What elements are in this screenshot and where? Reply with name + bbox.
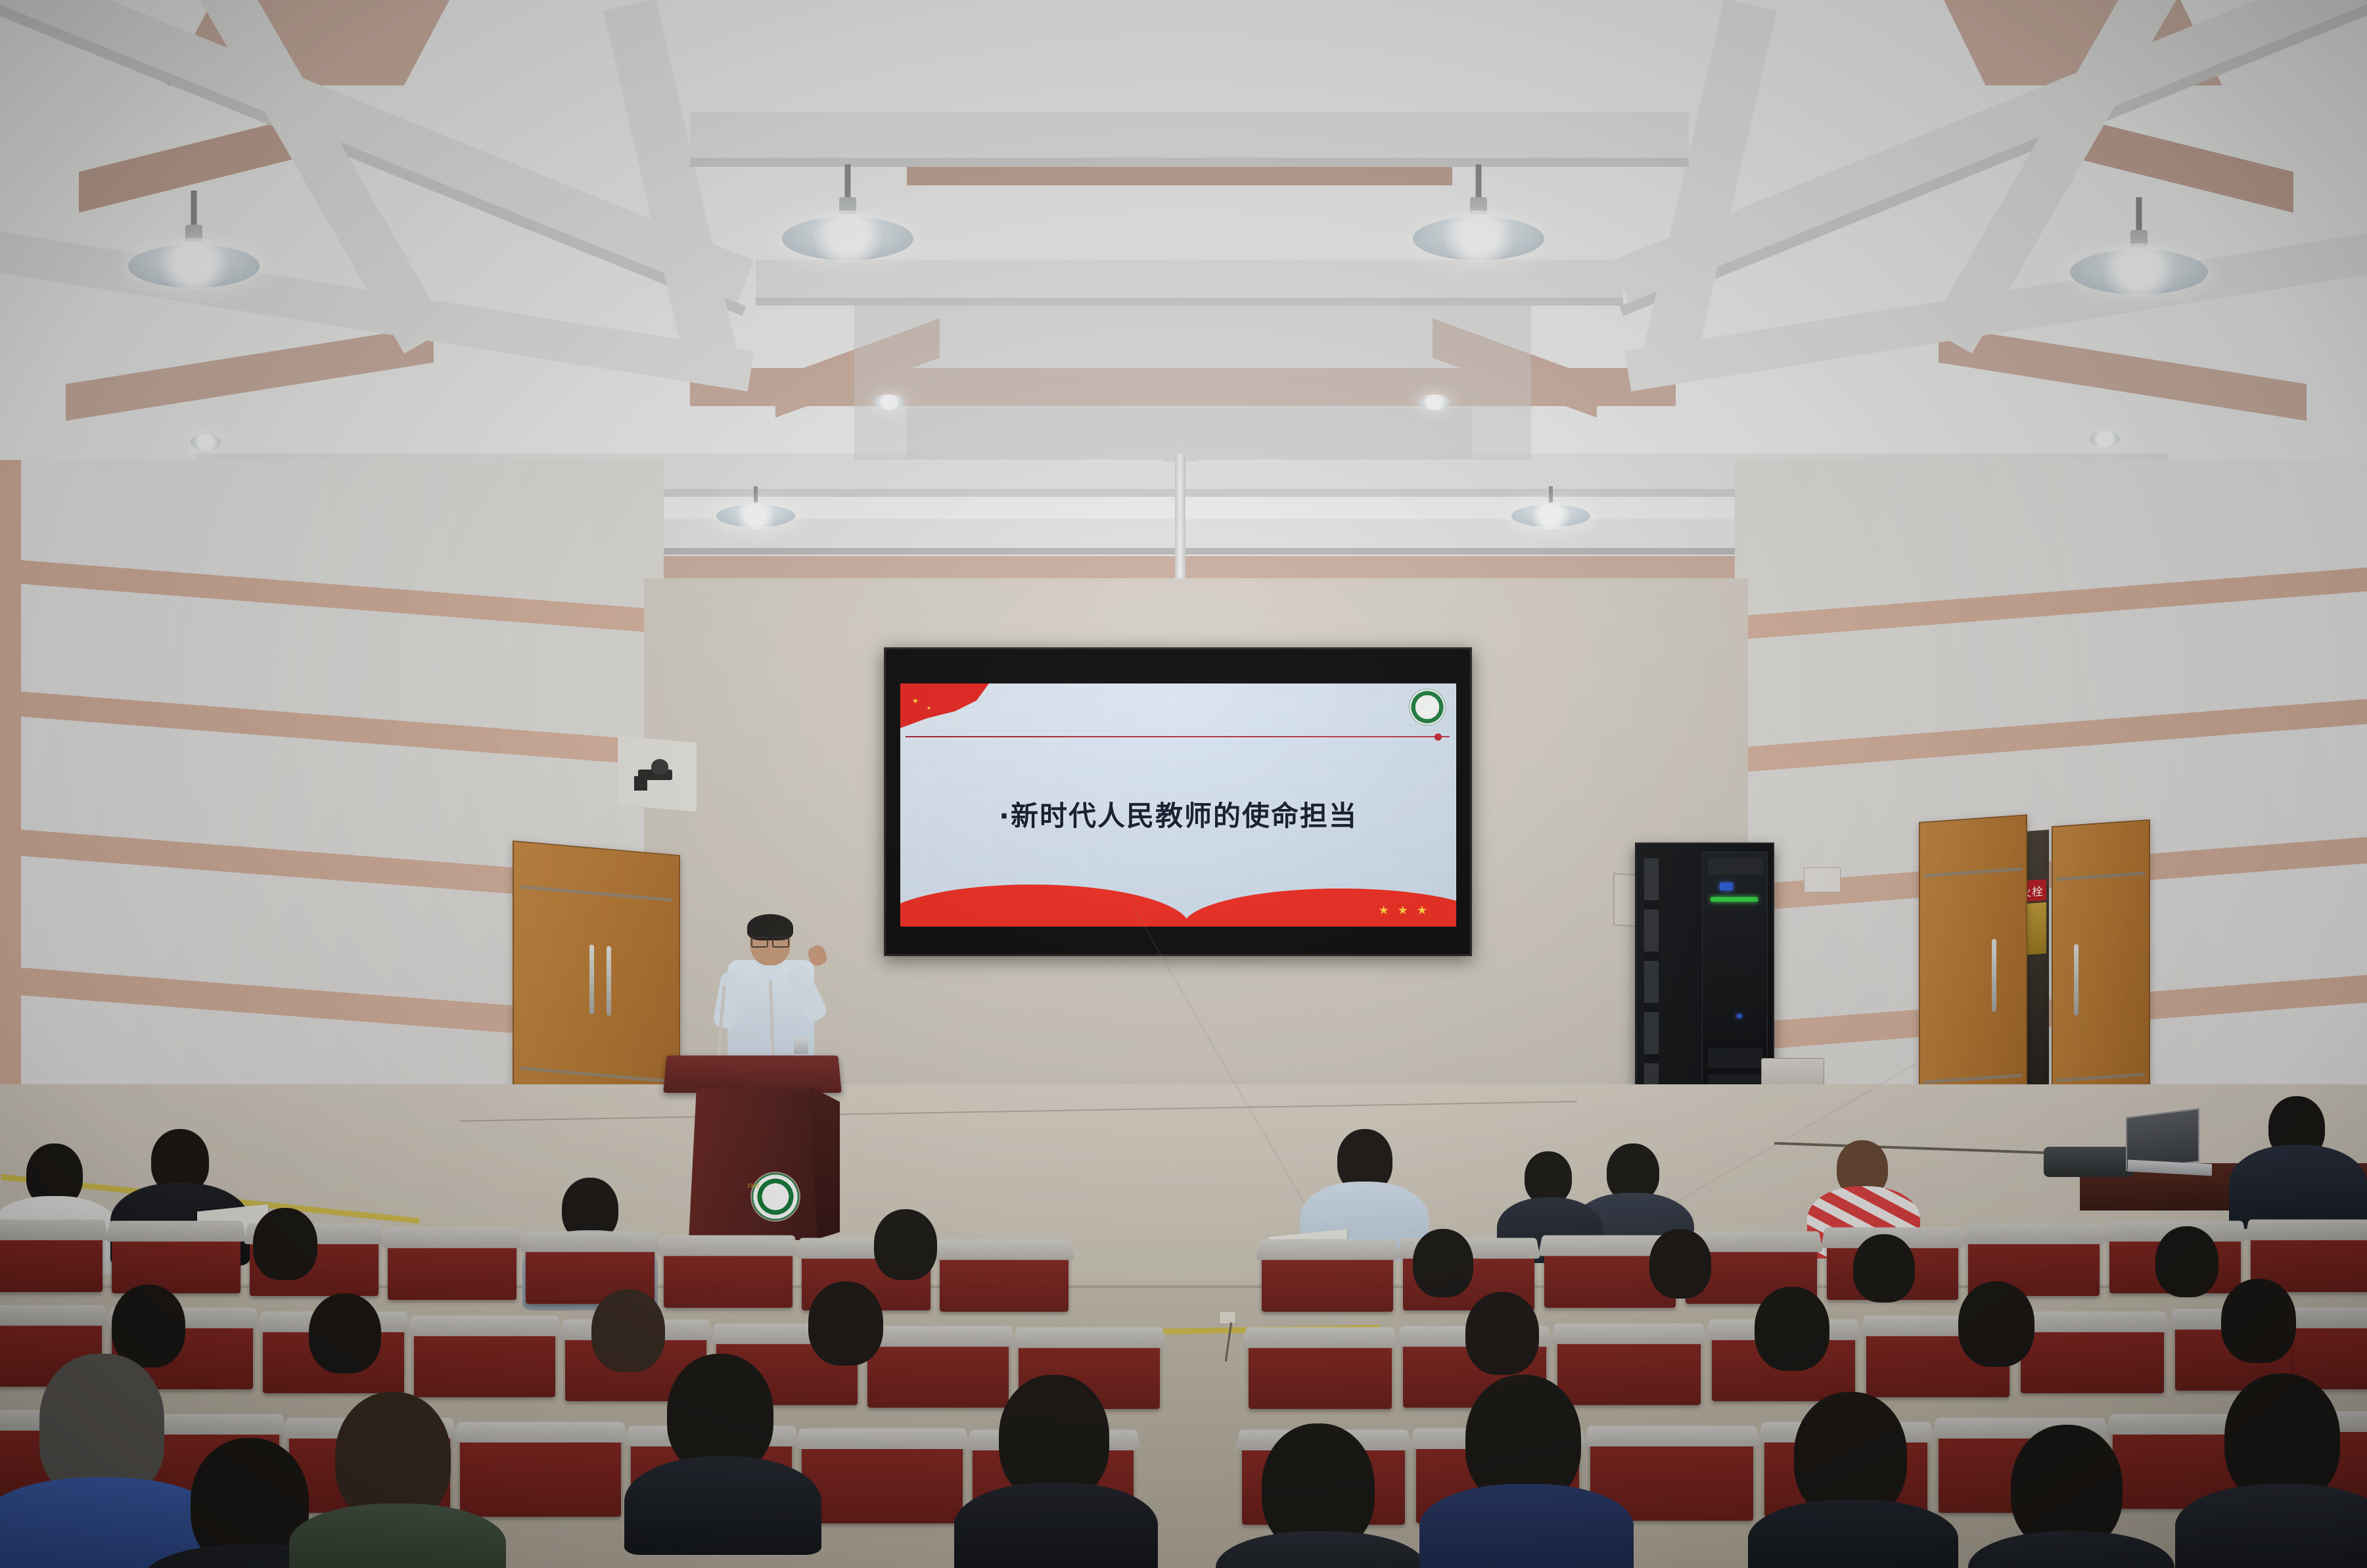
slide-divider-rule <box>906 736 1450 737</box>
emblem-year: 1902 <box>747 1183 759 1189</box>
pendant-lamp-4 <box>2070 197 2208 309</box>
door-handle[interactable] <box>1992 939 1996 1012</box>
auditorium-seat[interactable] <box>940 1249 1069 1312</box>
lectern-body: 1902 <box>689 1089 817 1240</box>
pendant-lamp-5 <box>716 486 795 552</box>
audience-head <box>253 1208 317 1280</box>
audience-shoulders <box>2229 1145 2367 1229</box>
av-equipment-rack <box>1635 842 1774 1118</box>
equipment-bag <box>2044 1147 2134 1177</box>
slide-rule-dot <box>1435 733 1442 741</box>
auditorium-seat[interactable] <box>2021 1321 2164 1393</box>
flag-star-icon: ★ <box>927 706 931 711</box>
audience-head <box>591 1289 665 1372</box>
double-door-left[interactable] <box>513 841 680 1124</box>
university-emblem-icon <box>1409 689 1446 726</box>
auditorium-seat[interactable] <box>664 1245 793 1308</box>
recessed-downlight-4 <box>2090 430 2120 448</box>
wall-socket-plate[interactable] <box>1804 867 1841 892</box>
audience-head <box>309 1293 381 1373</box>
auditorium-seat[interactable] <box>802 1438 963 1523</box>
speaker-person <box>713 917 838 1068</box>
audience-head <box>1649 1229 1711 1299</box>
double-door-right-leaf-a[interactable] <box>1919 814 2027 1128</box>
audience-head <box>39 1354 164 1495</box>
audience-shoulders <box>954 1483 1158 1568</box>
status-led-blue <box>1737 1014 1742 1018</box>
double-door-right-leaf-b[interactable] <box>2052 819 2150 1125</box>
rack-glass-door[interactable] <box>1702 852 1768 1112</box>
audience-head <box>1465 1292 1539 1375</box>
slide-stars: ★ ★ ★ <box>1379 904 1430 917</box>
university-emblem-icon <box>752 1173 799 1220</box>
audience-head <box>808 1281 883 1366</box>
pendant-lamp-1 <box>128 191 260 302</box>
audience-head <box>1958 1281 2034 1367</box>
audience-head <box>2221 1279 2296 1363</box>
audience-head <box>1755 1287 1829 1371</box>
pendant-lamp-2 <box>782 164 913 276</box>
status-led-blue <box>1720 883 1733 890</box>
audience-head <box>1853 1234 1915 1303</box>
presentation-slide: ★ ★ ·新时代人民教师的使命担当 ★ ★ ★ <box>900 683 1456 927</box>
slide-title: ·新时代人民教师的使命担当 <box>900 794 1456 834</box>
audience-shoulders <box>1419 1484 1634 1568</box>
audience-shoulders <box>2175 1484 2367 1568</box>
auditorium-seat[interactable] <box>867 1335 1009 1408</box>
door-handle[interactable] <box>607 946 611 1015</box>
audience-head <box>1413 1229 1473 1297</box>
status-led-green <box>1711 897 1758 902</box>
auditorium-seat[interactable] <box>0 1229 103 1292</box>
auditorium-seat[interactable] <box>460 1431 621 1517</box>
audience-shoulders <box>289 1504 506 1568</box>
projector-pole <box>1175 453 1185 588</box>
slide-hill-decoration: ★ ★ ★ <box>900 875 1456 927</box>
door-handle[interactable] <box>2074 944 2079 1016</box>
water-cup <box>794 1037 808 1054</box>
auditorium-seat[interactable] <box>388 1237 517 1300</box>
auditorium-seat[interactable] <box>414 1325 555 1397</box>
audience-head <box>1525 1151 1572 1204</box>
recessed-downlight-1 <box>191 434 221 451</box>
wall-camera-icon <box>634 759 678 788</box>
audience-head <box>112 1285 185 1368</box>
floor-power-socket[interactable] <box>1219 1311 1236 1324</box>
auditorium-seat[interactable] <box>1557 1333 1701 1405</box>
lecture-hall-scene: ★ ★ ·新时代人民教师的使命担当 ★ ★ ★ 消火栓 <box>0 0 2367 1568</box>
right-wall <box>1735 460 2367 1157</box>
rack-vent-slots <box>1644 858 1659 1101</box>
flag-star-icon: ★ <box>912 698 919 705</box>
auditorium-seat[interactable] <box>112 1230 241 1293</box>
recessed-downlight-3 <box>1419 394 1450 410</box>
pendant-lamp-3 <box>1413 164 1544 276</box>
auditorium-seat[interactable] <box>1262 1249 1393 1312</box>
audience-shoulders <box>624 1456 821 1555</box>
audience-shoulders <box>1748 1500 1958 1568</box>
door-handle[interactable] <box>589 944 594 1014</box>
projection-screen: ★ ★ ·新时代人民教师的使命担当 ★ ★ ★ <box>884 647 1472 956</box>
lectern-top <box>663 1055 841 1093</box>
auditorium-seat[interactable] <box>1249 1337 1392 1409</box>
pendant-lamp-6 <box>1511 486 1590 552</box>
lectern: 1902 <box>670 1055 835 1252</box>
audience-head <box>2155 1226 2218 1297</box>
speaker-glasses-icon <box>751 935 789 943</box>
recessed-downlight-2 <box>874 394 904 410</box>
audience-head <box>874 1209 937 1280</box>
